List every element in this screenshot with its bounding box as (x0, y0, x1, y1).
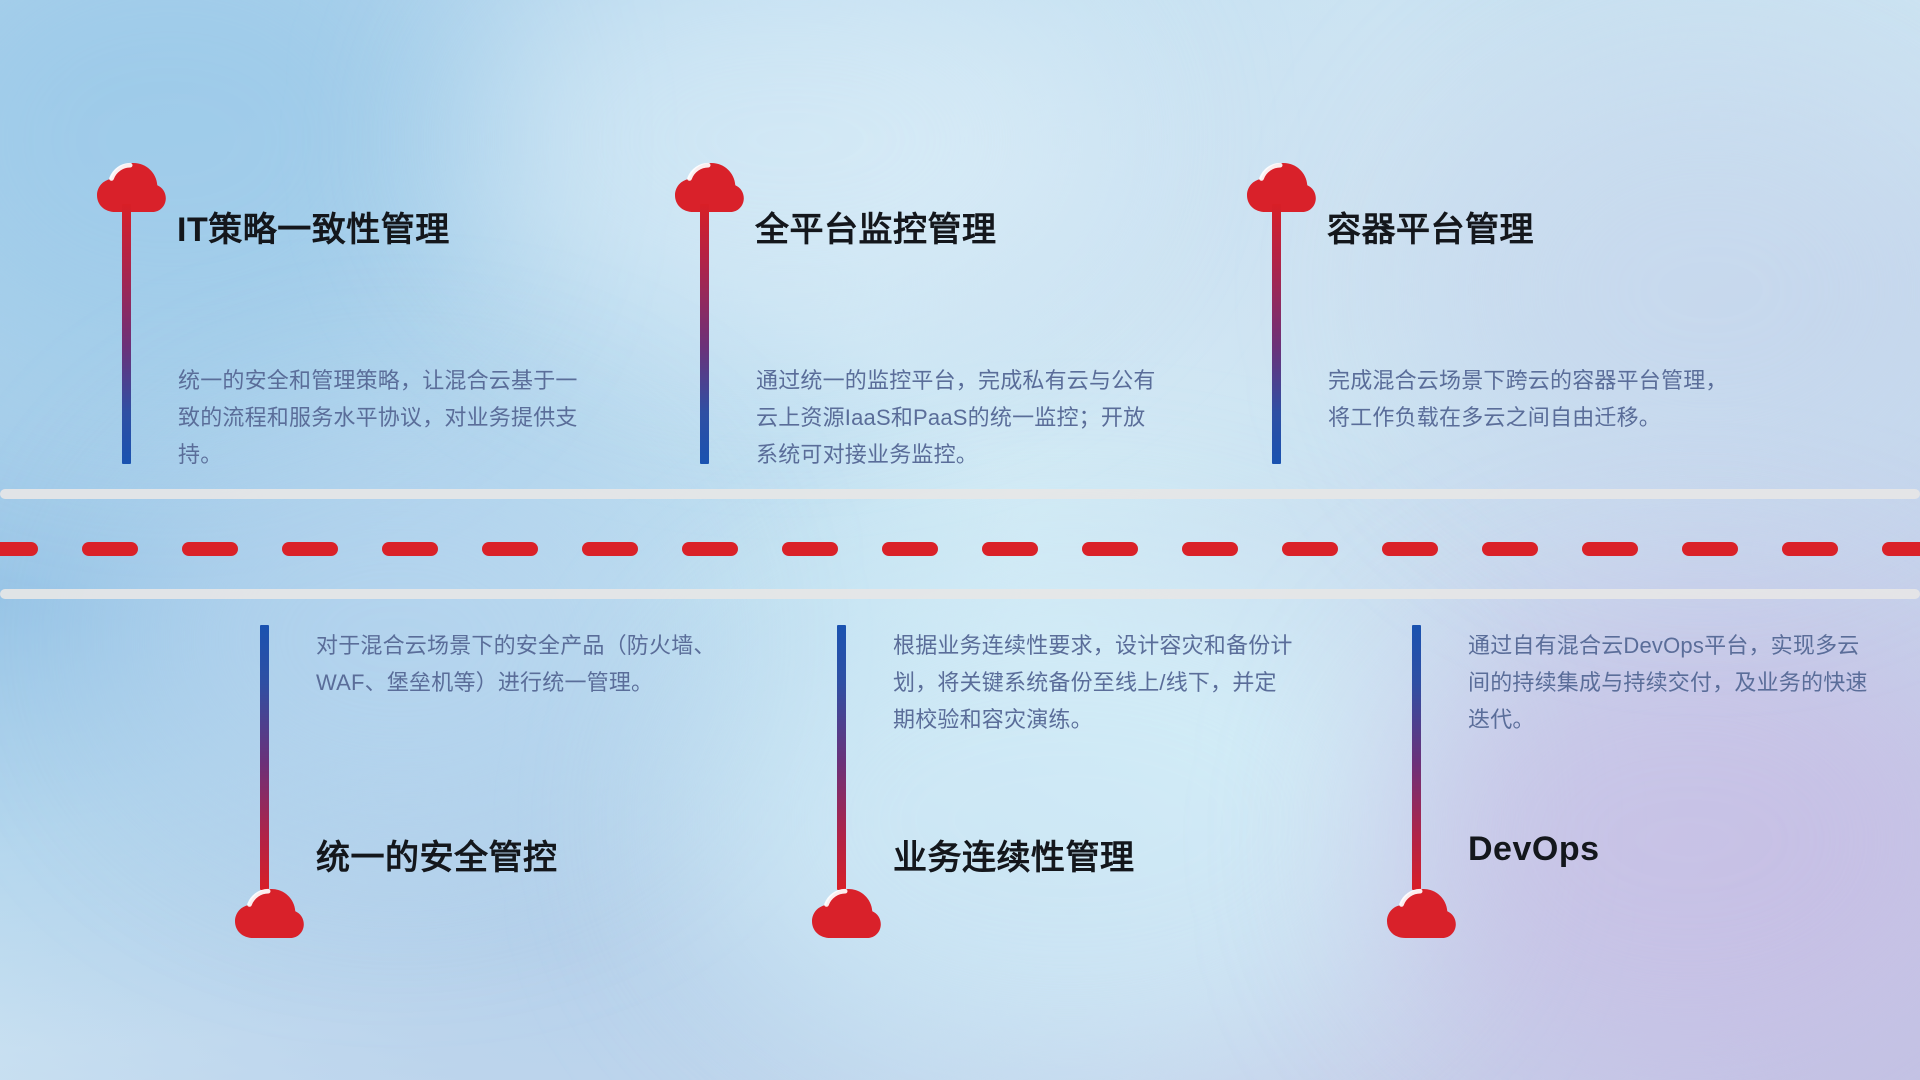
cloud-icon (233, 888, 305, 940)
divider-dash (0, 542, 38, 556)
divider-dash (1182, 542, 1238, 556)
feature-body-text: 完成混合云场景下跨云的容器平台管理，将工作负载在多云之间自由迁移。 (1328, 362, 1733, 436)
feature-title: 统一的安全管控 (316, 830, 558, 879)
divider-dash (582, 542, 638, 556)
divider-dashed-line (0, 542, 1920, 556)
infographic-canvas: IT策略一致性管理 统一的安全和管理策略，让混合云基于一致的流程和服务水平协议，… (0, 0, 1920, 1080)
cloud-icon (1385, 888, 1457, 940)
background-haze-blob (0, 0, 480, 400)
column-stem (260, 625, 269, 890)
feature-body-text: 通过统一的监控平台，完成私有云与公有云上资源IaaS和PaaS的统一监控；开放系… (756, 362, 1161, 473)
column-stem (122, 204, 131, 464)
divider-dash (1282, 542, 1338, 556)
divider-dash (1382, 542, 1438, 556)
divider-dash (1082, 542, 1138, 556)
column-stem (837, 625, 846, 890)
divider-dash (182, 542, 238, 556)
feature-body-text: 统一的安全和管理策略，让混合云基于一致的流程和服务水平协议，对业务提供支持。 (178, 362, 583, 473)
divider-dash (882, 542, 938, 556)
divider-dash (282, 542, 338, 556)
cloud-icon (95, 162, 167, 214)
background-haze-blob (1430, 60, 1920, 520)
cloud-icon (810, 888, 882, 940)
feature-title: 全平台监控管理 (755, 202, 997, 251)
feature-title: DevOps (1468, 830, 1600, 869)
column-stem (700, 204, 709, 464)
feature-body-text: 通过自有混合云DevOps平台，实现多云间的持续集成与持续交付，及业务的快速迭代… (1468, 627, 1873, 738)
divider-rule-top (0, 489, 1920, 499)
feature-title: IT策略一致性管理 (177, 202, 450, 251)
divider-dash (1782, 542, 1838, 556)
divider-dash (782, 542, 838, 556)
divider-dash (1682, 542, 1738, 556)
divider-dash (1582, 542, 1638, 556)
divider-dash (682, 542, 738, 556)
feature-title: 容器平台管理 (1327, 202, 1534, 251)
cloud-icon (673, 162, 745, 214)
feature-title: 业务连续性管理 (893, 830, 1135, 879)
cloud-icon (1245, 162, 1317, 214)
feature-body-text: 根据业务连续性要求，设计容灾和备份计划，将关键系统备份至线上/线下，并定期校验和… (893, 627, 1298, 738)
divider-dash (382, 542, 438, 556)
divider-dash (82, 542, 138, 556)
divider-dash (1482, 542, 1538, 556)
divider-dash (1882, 542, 1920, 556)
feature-body-text: 对于混合云场景下的安全产品（防火墙、WAF、堡垒机等）进行统一管理。 (316, 627, 721, 701)
divider-dash (982, 542, 1038, 556)
divider-dash (482, 542, 538, 556)
divider-rule-bottom (0, 589, 1920, 599)
column-stem (1272, 204, 1281, 464)
background-haze-blob (470, 0, 1110, 340)
column-stem (1412, 625, 1421, 890)
